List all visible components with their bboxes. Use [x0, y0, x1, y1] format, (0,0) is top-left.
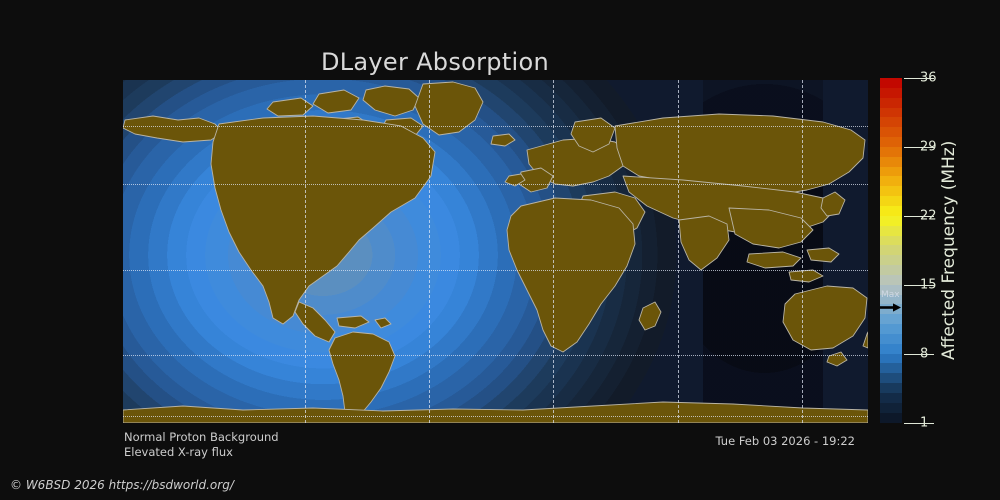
gridline-lat-60s [123, 416, 868, 417]
colorbar-band [880, 206, 902, 216]
colorbar-band [880, 413, 902, 423]
colorbar-band [880, 354, 902, 364]
colorbar-tick [904, 423, 934, 424]
status-proton-background: Normal Proton Background [124, 430, 279, 444]
colorbar-band [880, 363, 902, 373]
colorbar-band [880, 344, 902, 354]
colorbar-max-label: Max [881, 290, 900, 300]
colorbar-band [880, 167, 902, 177]
colorbar-band [880, 137, 902, 147]
gridline-lat-30s [123, 355, 868, 356]
colorbar-band [880, 78, 902, 88]
colorbar-band [880, 393, 902, 403]
gridline-lon-60e [802, 80, 803, 423]
colorbar-axis-label: Affected Frequency (MHz) [938, 78, 960, 423]
colorbar-band [880, 334, 902, 344]
gridline-lon-0 [678, 80, 679, 423]
gridline-lat-60n [123, 126, 868, 127]
colorbar-band [880, 314, 902, 324]
colorbar-band [880, 265, 902, 275]
colorbar-band [880, 373, 902, 383]
colorbar-tick-label: 1 [920, 416, 928, 431]
gridline-lon-60w [553, 80, 554, 423]
dlayer-absorption-figure: DLayer Absorption [0, 0, 1000, 500]
colorbar-band [880, 324, 902, 334]
colorbar-tick-label: 8 [920, 347, 928, 362]
colorbar-band [880, 196, 902, 206]
page-title: DLayer Absorption [0, 48, 870, 76]
gridline-lat-30n [123, 184, 868, 185]
colorbar-tick-label: 15 [920, 278, 937, 293]
colorbar-band [880, 403, 902, 413]
copyright-notice: © W6BSD 2026 https://bsdworld.org/ [10, 478, 234, 492]
colorbar-tick-label: 36 [920, 71, 937, 86]
colorbar-band [880, 255, 902, 265]
colorbar-band [880, 383, 902, 393]
colorbar-band [880, 117, 902, 127]
gridline-lon-120w [429, 80, 430, 423]
colorbar-band [880, 108, 902, 118]
colorbar-band [880, 147, 902, 157]
timestamp: Tue Feb 03 2026 - 19:22 [716, 434, 855, 448]
land-coastlines-layer [123, 80, 868, 423]
right-arrow-icon [880, 303, 902, 312]
colorbar-band [880, 157, 902, 167]
world-map-plot[interactable] [123, 80, 868, 423]
colorbar-band [880, 98, 902, 108]
colorbar-band [880, 186, 902, 196]
colorbar[interactable]: Max 1815222936 [880, 78, 902, 423]
colorbar-band [880, 127, 902, 137]
colorbar-band [880, 216, 902, 226]
colorbar-band [880, 275, 902, 285]
colorbar-tick [904, 354, 934, 355]
status-xray-flux: Elevated X-ray flux [124, 445, 233, 459]
colorbar-tick-label: 29 [920, 140, 937, 155]
colorbar-band [880, 226, 902, 236]
colorbar-band [880, 236, 902, 246]
gridline-lat-0 [123, 270, 868, 271]
colorbar-band [880, 88, 902, 98]
colorbar-band [880, 245, 902, 255]
gridline-lon-150w [305, 80, 306, 423]
colorbar-tick-label: 22 [920, 209, 937, 224]
colorbar-band [880, 176, 902, 186]
colorbar-gradient [880, 78, 902, 423]
